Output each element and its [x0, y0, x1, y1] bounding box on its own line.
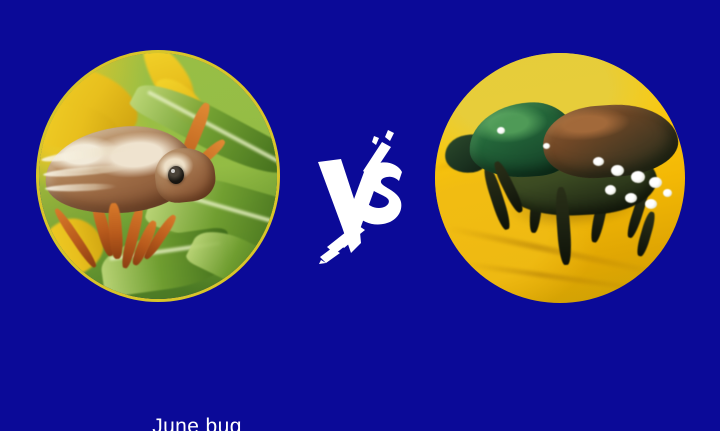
abdominal-tuft	[663, 189, 672, 197]
abdominal-tuft	[631, 171, 645, 183]
abdominal-tuft	[645, 199, 657, 209]
abdominal-tuft	[649, 177, 662, 188]
abdominal-tuft	[593, 157, 604, 166]
june-bug-eye-highlight	[171, 169, 175, 173]
abdominal-tuft	[543, 143, 550, 149]
june-bug-photo	[39, 53, 277, 299]
comparison-item-left: June bug	[39, 53, 277, 299]
june-bug-eye	[168, 166, 184, 184]
abdominal-tuft	[625, 193, 637, 203]
comparison-item-right: Japanese beetle	[435, 53, 685, 303]
abdominal-tuft	[611, 165, 624, 176]
japanese-beetle-photo	[435, 53, 685, 303]
comparison-graphic: June bug	[0, 0, 720, 431]
versus-icon	[312, 128, 408, 264]
abdominal-tuft	[605, 185, 616, 195]
abdominal-tuft	[497, 127, 505, 134]
left-caption: June bug	[77, 415, 317, 431]
